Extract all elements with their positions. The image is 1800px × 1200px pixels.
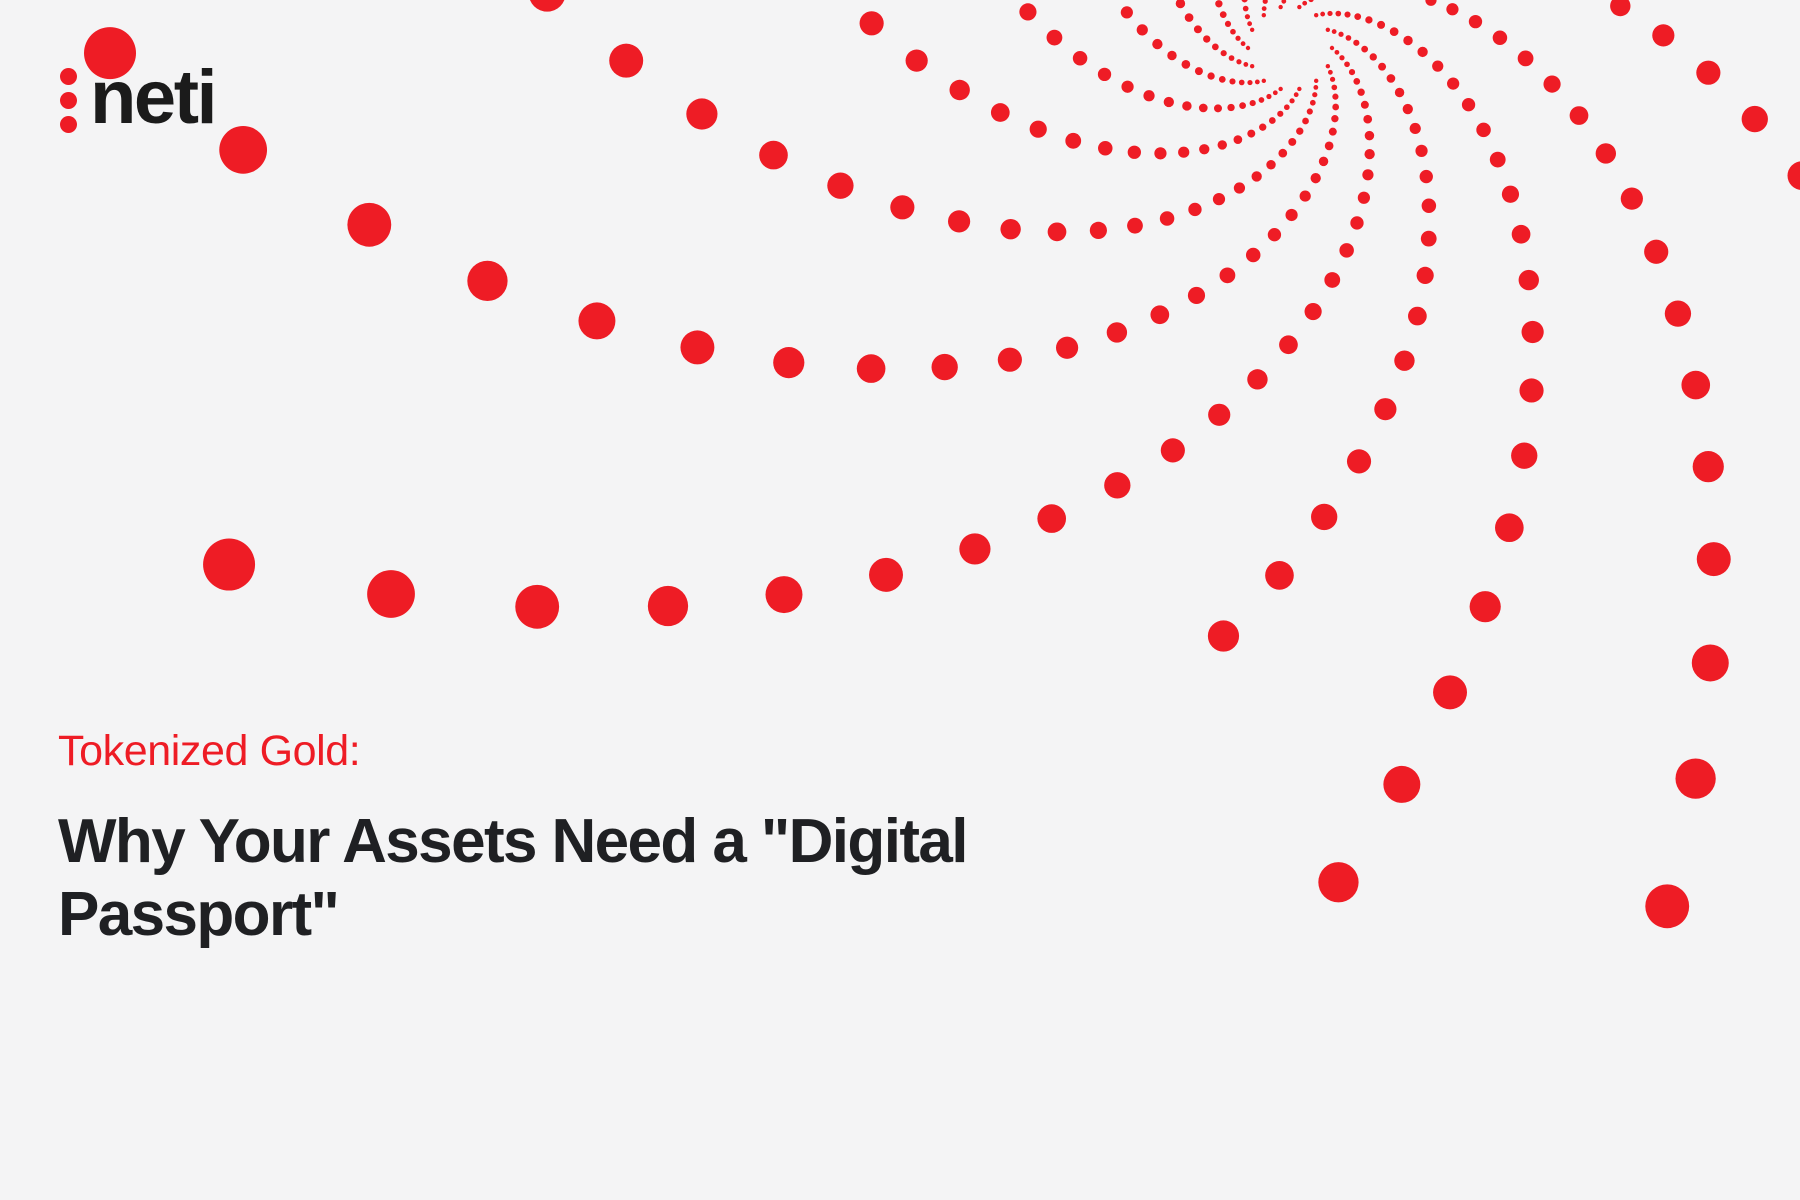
logo[interactable]: neti bbox=[60, 62, 215, 134]
banner-canvas: neti Tokenized Gold: Why Your Assets Nee… bbox=[0, 0, 1800, 1200]
logo-dot-1 bbox=[60, 68, 77, 85]
logo-wordmark: neti bbox=[90, 62, 215, 134]
headline-block: Tokenized Gold: Why Your Assets Need a "… bbox=[58, 725, 1278, 951]
logo-dots-icon bbox=[60, 64, 77, 133]
eyebrow-text: Tokenized Gold: bbox=[58, 725, 1278, 779]
logo-dot-3 bbox=[60, 116, 77, 133]
page-title: Why Your Assets Need a "Digital Passport… bbox=[58, 805, 1238, 951]
logo-dot-2 bbox=[60, 92, 77, 109]
spiral-dot-pattern bbox=[0, 0, 1800, 1200]
